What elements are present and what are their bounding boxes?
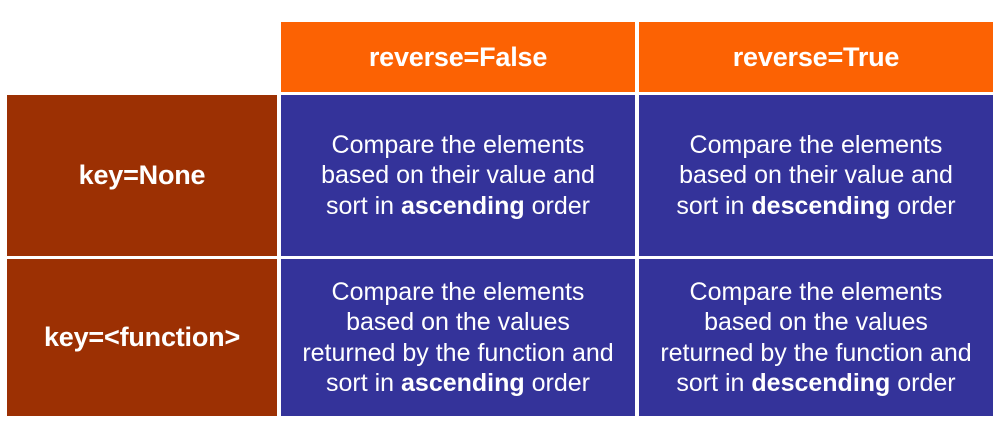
cell-line-3-emphasis: ascending bbox=[401, 369, 525, 397]
cell-line-3-prefix: sort in bbox=[326, 369, 401, 397]
cell-line-3-emphasis: descending bbox=[751, 369, 890, 397]
cell-line-1: Compare the elements bbox=[690, 278, 943, 306]
matrix-corner-cell bbox=[7, 22, 277, 92]
cell-key-function-reverse-true: Compare the elements based on the values… bbox=[639, 259, 993, 416]
cell-line-1: Compare the elements bbox=[690, 131, 943, 159]
cell-line-3-prefix: sort in bbox=[326, 192, 401, 220]
cell-line-2: based on their value and bbox=[679, 161, 953, 189]
cell-line-3-emphasis: descending bbox=[751, 192, 890, 220]
cell-line-1: Compare the elements bbox=[332, 278, 585, 306]
cell-line-3-suffix: order bbox=[890, 192, 955, 220]
column-header-reverse-true: reverse=True bbox=[639, 22, 993, 92]
cell-line-3-suffix: order bbox=[525, 192, 590, 220]
cell-line-1: Compare the elements bbox=[332, 131, 585, 159]
cell-line-3-prefix: sort in bbox=[676, 192, 751, 220]
cell-line-3-suffix: order bbox=[890, 369, 955, 397]
column-header-reverse-false: reverse=False bbox=[281, 22, 635, 92]
cell-key-function-reverse-false: Compare the elements based on the values… bbox=[281, 259, 635, 416]
cell-line-3-emphasis: ascending bbox=[401, 192, 525, 220]
row-header-key-none: key=None bbox=[7, 95, 277, 256]
cell-line-2: based on the values bbox=[704, 308, 928, 336]
cell-key-none-reverse-false: Compare the elements based on their valu… bbox=[281, 95, 635, 256]
row-header-key-function: key=<function> bbox=[7, 259, 277, 416]
cell-key-none-reverse-true: Compare the elements based on their valu… bbox=[639, 95, 993, 256]
cell-line-3-suffix: order bbox=[525, 369, 590, 397]
cell-line-2: based on the values bbox=[346, 308, 570, 336]
sort-parameters-matrix: reverse=False reverse=True key=None Comp… bbox=[7, 22, 993, 418]
cell-line-3-prefix: sort in bbox=[676, 369, 751, 397]
cell-line-2b: returned by the function and bbox=[660, 339, 971, 367]
cell-line-2b: returned by the function and bbox=[302, 339, 613, 367]
cell-line-2: based on their value and bbox=[321, 161, 595, 189]
